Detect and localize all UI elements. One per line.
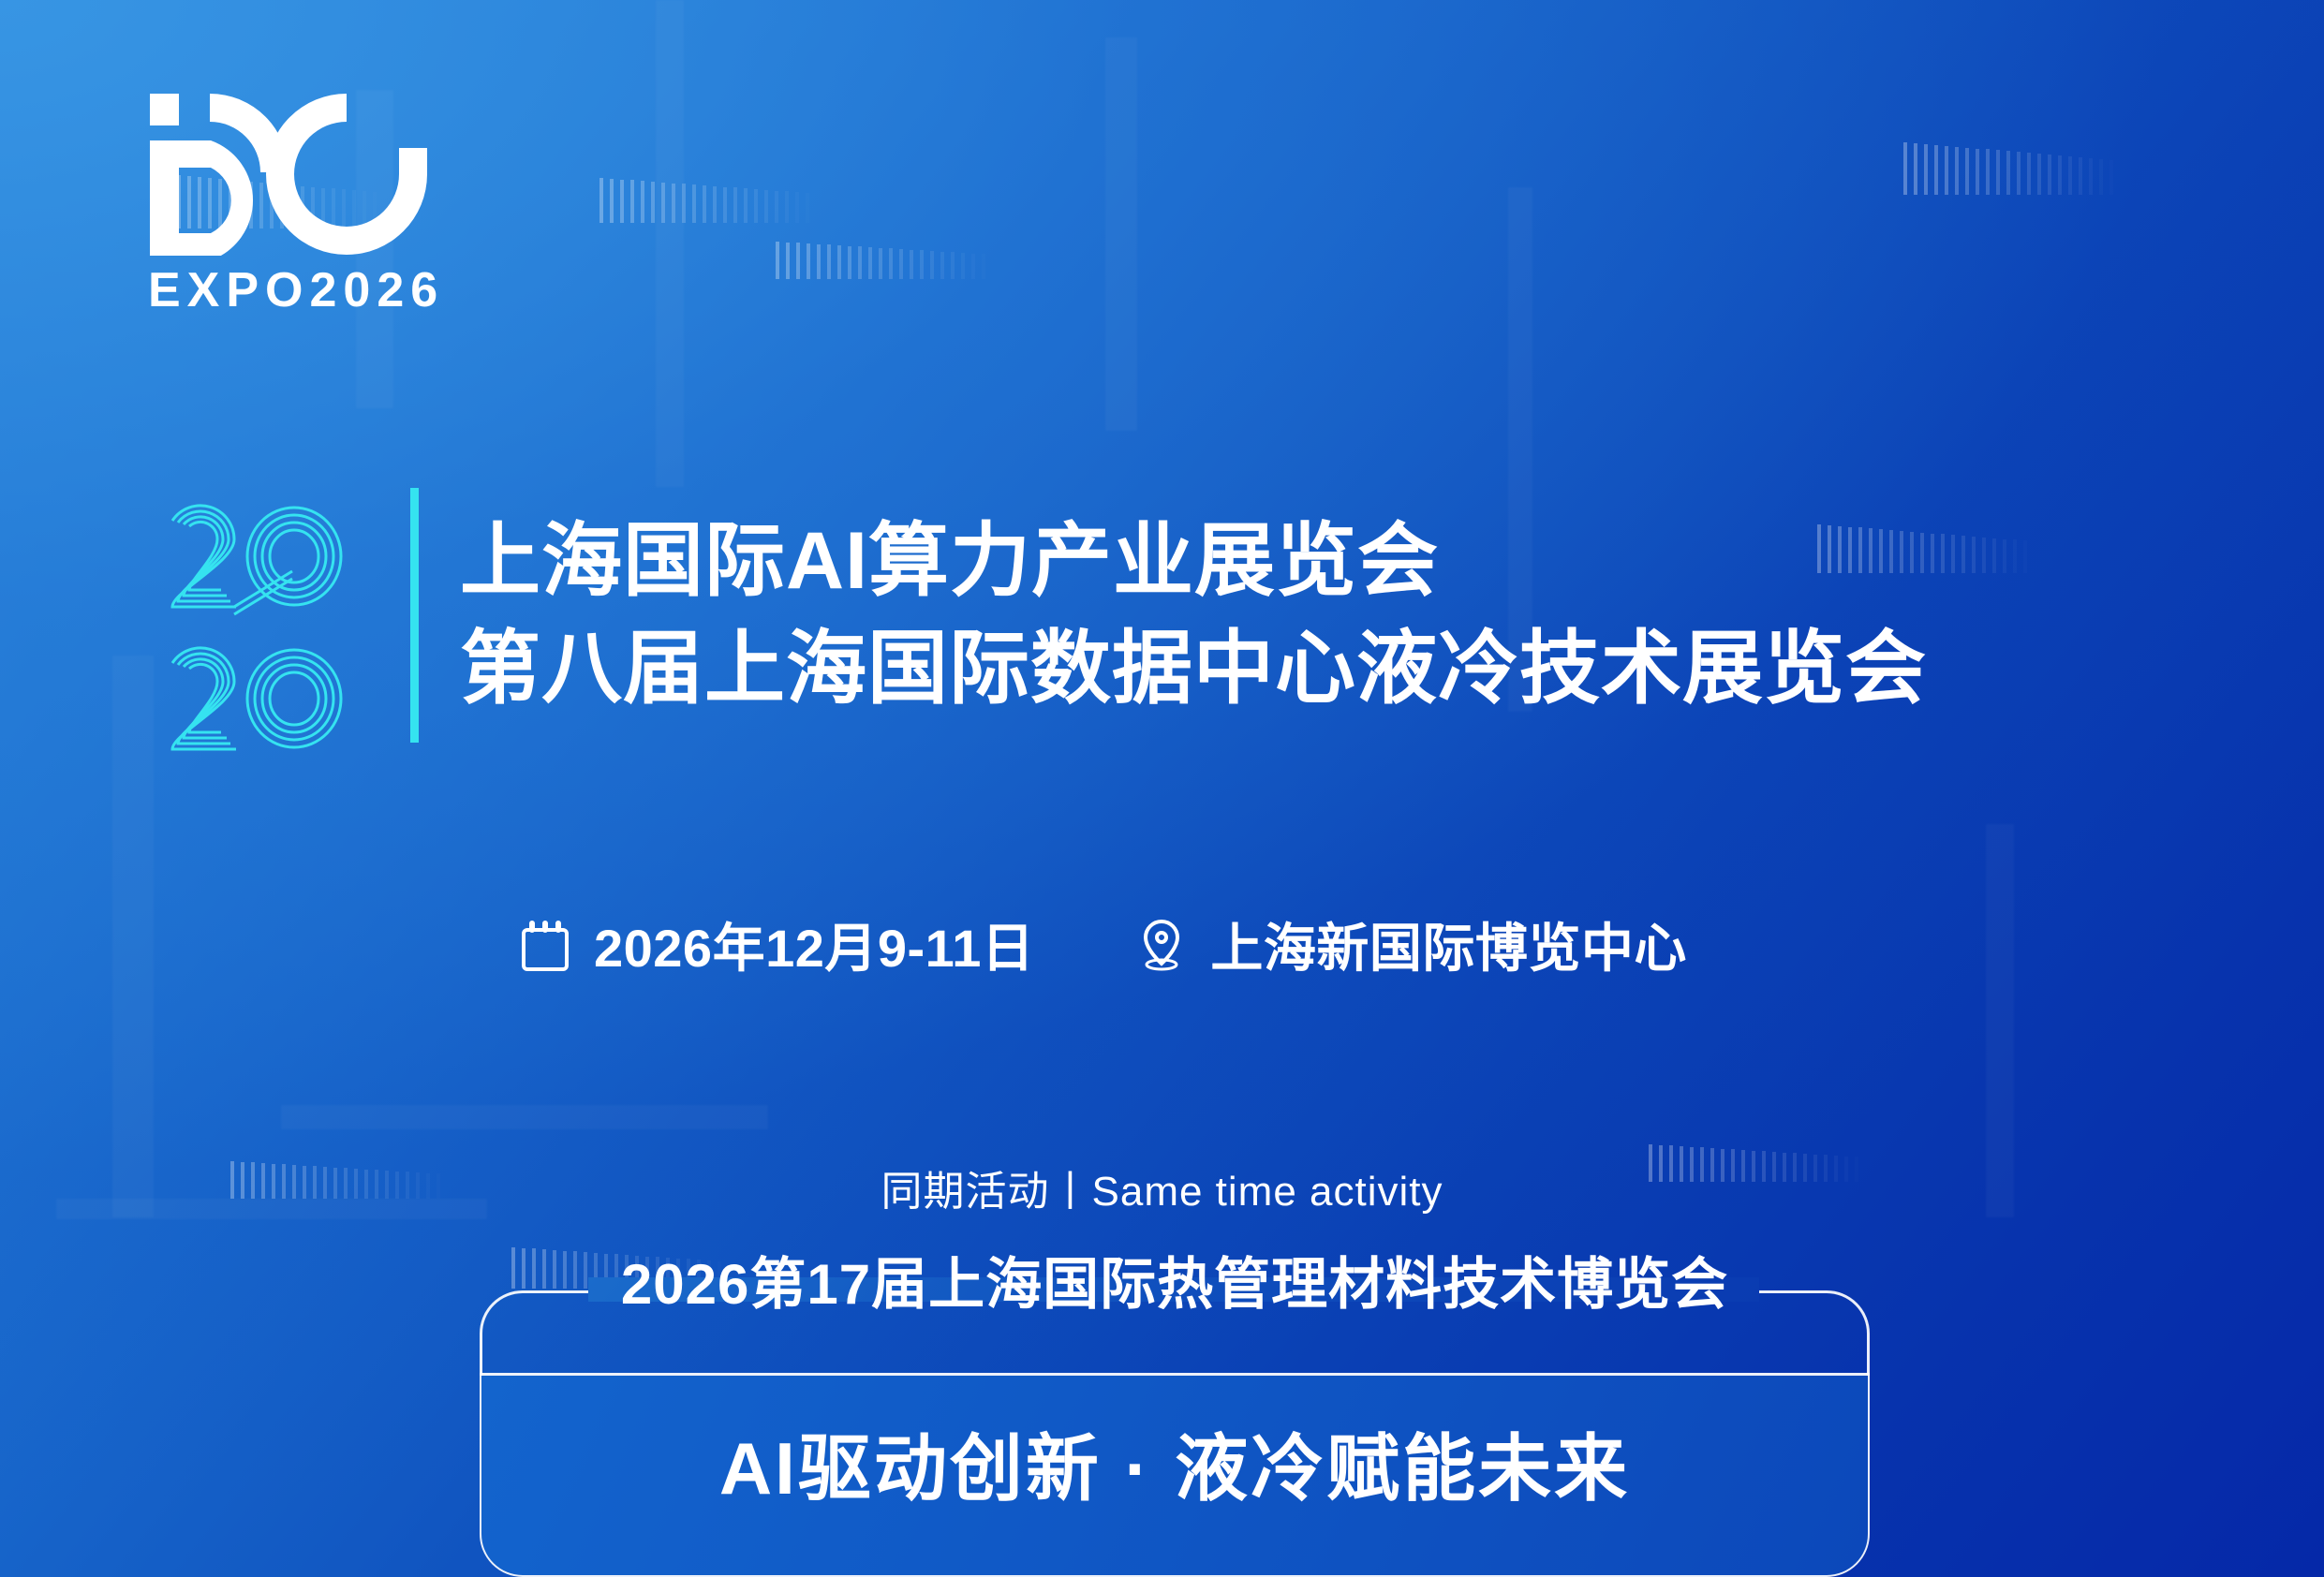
year-2026-graphic bbox=[161, 479, 375, 751]
map-pin-icon bbox=[1137, 918, 1186, 972]
event-meta-row: 2026年12月9-11日 上海新国际博览中心 bbox=[521, 906, 1687, 982]
event-date: 2026年12月9-11日 bbox=[521, 906, 1034, 982]
event-venue-text: 上海新国际博览中心 bbox=[1210, 906, 1687, 982]
same-time-activity-label: 同期活动丨Same time activity bbox=[0, 1157, 2324, 1217]
decor-softblock-5 bbox=[112, 656, 154, 1217]
decor-stripes-4 bbox=[1903, 142, 2130, 195]
cyan-divider-bar bbox=[410, 488, 419, 743]
exhibition-title-line-2: 第八届上海国际数据中心液冷技术展览会 bbox=[460, 615, 1927, 723]
concurrent-event-slogan: AI驱动创新 · 液冷赋能未来 bbox=[480, 1410, 1870, 1515]
concurrent-event-title: 2026第17届上海国际热管理材料技术博览会 bbox=[480, 1239, 1870, 1320]
calendar-icon bbox=[521, 918, 570, 972]
logo-wordmark: EXPO2026 bbox=[148, 265, 444, 317]
title-block: 上海国际AI算力产业展览会 第八届上海国际数据中心液冷技术展览会 bbox=[161, 479, 1927, 751]
decor-stripes-2 bbox=[600, 178, 826, 223]
exhibition-title-line-1: 上海国际AI算力产业展览会 bbox=[460, 508, 1927, 615]
concurrent-event-frame: 2026第17届上海国际热管理材料技术博览会 AI驱动创新 · 液冷赋能未来 bbox=[480, 1290, 1870, 1577]
decor-softblock-3 bbox=[1105, 37, 1137, 431]
decor-softblock-2 bbox=[656, 0, 684, 487]
event-date-text: 2026年12月9-11日 bbox=[594, 906, 1034, 982]
exhibition-titles: 上海国际AI算力产业展览会 第八届上海国际数据中心液冷技术展览会 bbox=[460, 508, 1927, 723]
poster-root: EXPO2026 bbox=[0, 0, 2324, 1577]
event-venue: 上海新国际博览中心 bbox=[1137, 906, 1687, 982]
decor-stripes-3 bbox=[776, 242, 1002, 279]
decor-softblock-6 bbox=[281, 1105, 768, 1129]
idc-expo-logo: EXPO2026 bbox=[148, 92, 485, 317]
frame-separator-line bbox=[480, 1373, 1870, 1376]
